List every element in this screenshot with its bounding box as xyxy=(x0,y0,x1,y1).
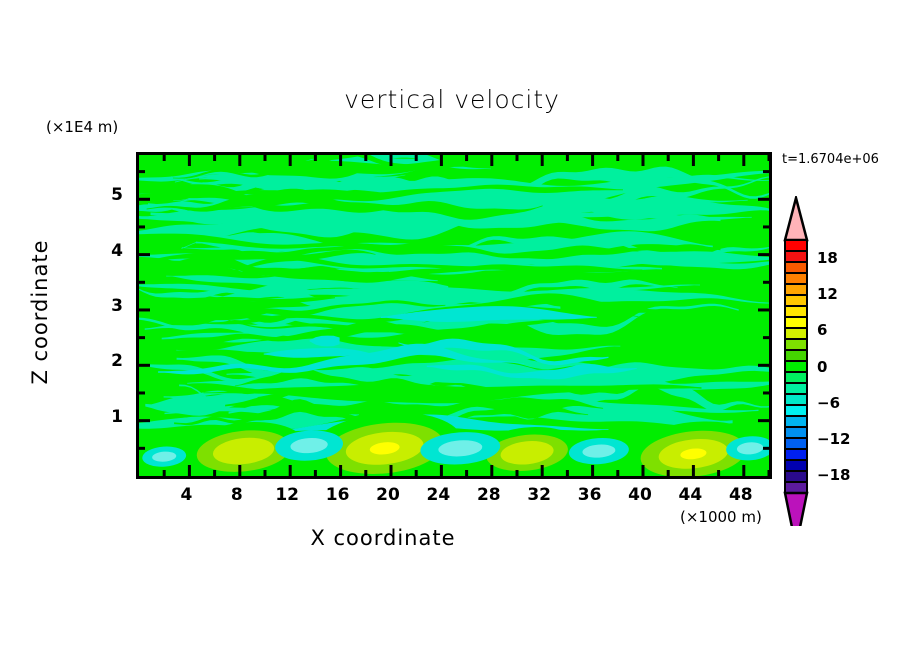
x-tick-label: 44 xyxy=(670,485,710,505)
colorbar-tick-label: −6 xyxy=(817,394,840,412)
x-tick-label: 4 xyxy=(166,485,206,505)
colorbar-band xyxy=(785,295,807,306)
colorbar-band xyxy=(785,361,807,372)
axis-ticks xyxy=(139,155,769,476)
x-tick-label: 40 xyxy=(620,485,660,505)
colorbar-band xyxy=(785,394,807,405)
y-axis-title: Z coordinate xyxy=(28,212,52,412)
colorbar-under-cap xyxy=(785,493,807,526)
colorbar-band xyxy=(785,427,807,438)
colorbar-over-cap xyxy=(785,198,807,240)
colorbar-band xyxy=(785,306,807,317)
x-tick-label: 20 xyxy=(368,485,408,505)
colorbar-band xyxy=(785,416,807,427)
colorbar-tick-label: 18 xyxy=(817,249,838,267)
colorbar-band xyxy=(785,240,807,251)
timestamp-annotation: t=1.6704e+06 xyxy=(782,152,879,167)
x-tick-label: 24 xyxy=(418,485,458,505)
colorbar-band xyxy=(785,284,807,295)
colorbar-band xyxy=(785,405,807,416)
colorbar-band xyxy=(785,273,807,284)
colorbar-band xyxy=(785,449,807,460)
y-axis-unit-label: (×1E4 m) xyxy=(46,118,118,136)
colorbar-band xyxy=(785,372,807,383)
colorbar-band xyxy=(785,350,807,361)
colorbar-band xyxy=(785,471,807,482)
x-tick-label: 48 xyxy=(721,485,761,505)
y-tick-label: 4 xyxy=(83,241,123,261)
x-axis-unit-label: (×1000 m) xyxy=(680,508,762,526)
figure-canvas: vertical velocity (×1E4 m) t=1.6704e+06 … xyxy=(0,0,904,654)
x-tick-label: 12 xyxy=(267,485,307,505)
x-tick-label: 32 xyxy=(519,485,559,505)
contour-plot-area xyxy=(136,152,772,479)
x-tick-label: 36 xyxy=(570,485,610,505)
colorbar-band xyxy=(785,482,807,493)
colorbar-band xyxy=(785,251,807,262)
colorbar-band xyxy=(785,328,807,339)
colorbar-tick-label: 0 xyxy=(817,358,827,376)
colorbar-band xyxy=(785,383,807,394)
x-tick-label: 16 xyxy=(318,485,358,505)
x-tick-label: 8 xyxy=(217,485,257,505)
colorbar-band xyxy=(785,317,807,328)
colorbar-tick-label: −12 xyxy=(817,430,850,448)
colorbar-tick-label: −18 xyxy=(817,466,850,484)
colorbar-band xyxy=(785,438,807,449)
y-tick-label: 3 xyxy=(83,296,123,316)
page-title: vertical velocity xyxy=(0,85,904,114)
y-tick-label: 5 xyxy=(83,185,123,205)
colorbar-band xyxy=(785,262,807,273)
colorbar-band xyxy=(785,460,807,471)
x-axis-title: X coordinate xyxy=(0,526,766,550)
y-tick-label: 2 xyxy=(83,351,123,371)
y-tick-label: 1 xyxy=(83,407,123,427)
colorbar-tick-label: 6 xyxy=(817,321,827,339)
colorbar-tick-label: 12 xyxy=(817,285,838,303)
x-tick-label: 28 xyxy=(469,485,509,505)
colorbar-band xyxy=(785,339,807,350)
